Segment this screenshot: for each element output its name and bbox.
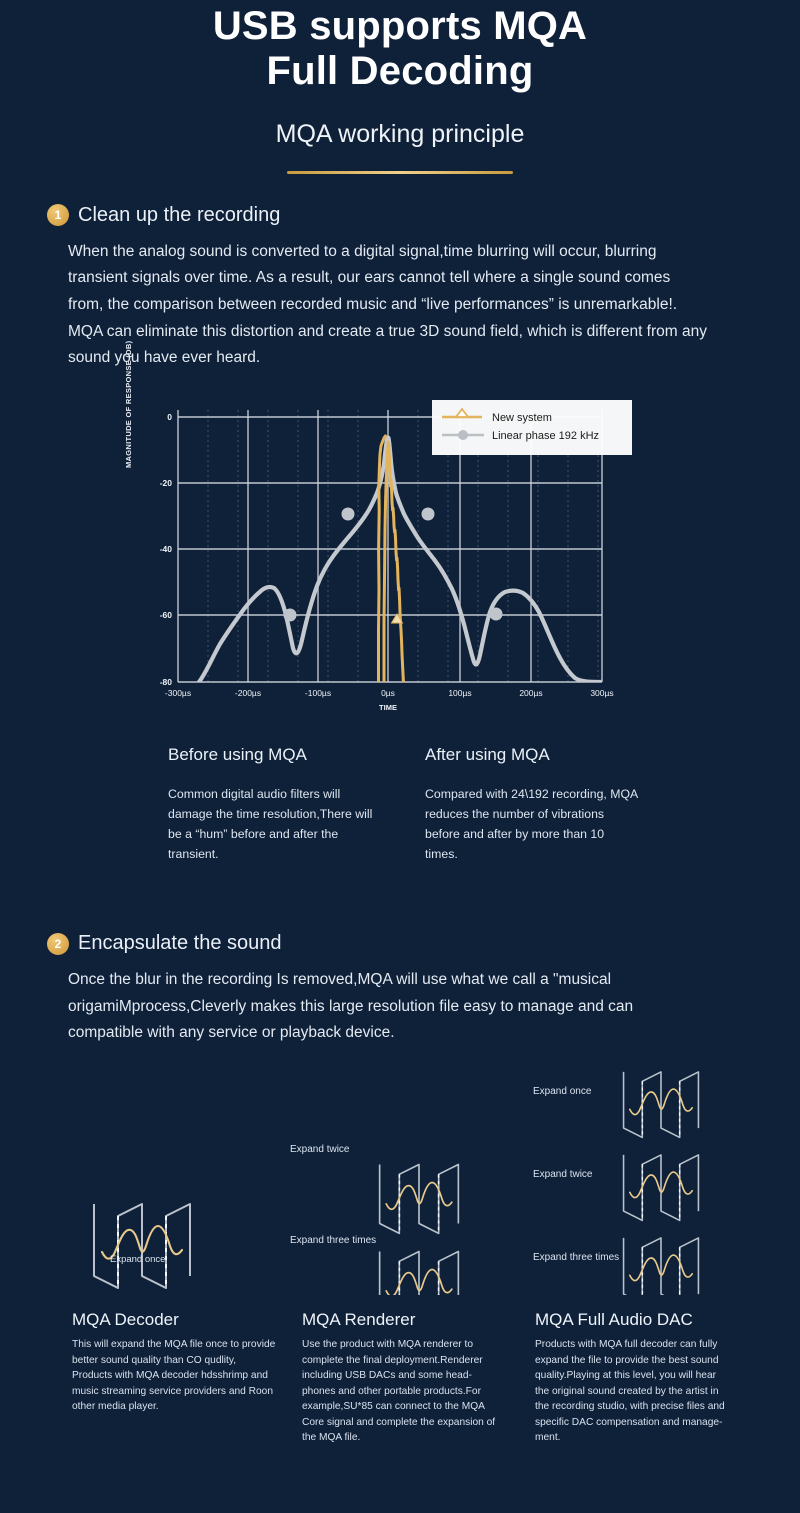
- origami-expand-three-times-right: [624, 1238, 699, 1295]
- section-clean-up-recording: 1 Clean up the recording When the analog…: [0, 204, 800, 372]
- origami-label-expand-once-large: Expand once: [110, 1254, 165, 1265]
- section-2-heading: 2 Encapsulate the sound: [0, 932, 800, 955]
- origami-label-expand-three-times-right: Expand three times: [533, 1252, 619, 1263]
- svg-text:-100µs: -100µs: [305, 688, 331, 698]
- gold-divider: [287, 171, 513, 174]
- chart-x-axis-title: TIME: [379, 703, 397, 710]
- step-number-badge: 1: [47, 204, 69, 226]
- card-body: Use the product with MQA renderer to com…: [302, 1337, 497, 1446]
- svg-text:-60: -60: [160, 610, 173, 620]
- card-heading: MQA Decoder: [72, 1310, 277, 1330]
- page-title: USB supports MQA Full Decoding: [0, 4, 800, 94]
- chart-legend: New system Linear phase 192 kHz: [432, 400, 632, 455]
- section-2-body: Once the blur in the recording Is remove…: [68, 967, 708, 1047]
- svg-text:0: 0: [167, 412, 172, 422]
- svg-text:100µs: 100µs: [448, 688, 471, 698]
- origami-expand-once-right: [624, 1072, 699, 1138]
- svg-text:0µs: 0µs: [381, 688, 395, 698]
- origami-expand-twice-mid: [380, 1164, 459, 1233]
- svg-text:-200µs: -200µs: [235, 688, 261, 698]
- before-body: Common digital audio filters will damage…: [168, 785, 383, 865]
- card-body: Products with MQA full decoder can fully…: [535, 1337, 730, 1446]
- origami-label-expand-twice-right: Expand twice: [533, 1169, 592, 1180]
- svg-text:300µs: 300µs: [590, 688, 613, 698]
- chart-svg: 0 -20 -40 -60 -80 -300µs -200µs -100µs 0…: [0, 390, 800, 710]
- comparison-before: Before using MQA Common digital audio fi…: [168, 745, 383, 865]
- card-body: This will expand the MQA file once to pr…: [72, 1337, 277, 1415]
- page-subtitle: MQA working principle: [0, 120, 800, 149]
- chart-y-axis-title: MAGNITUDE OF RESPONSE (DB): [124, 341, 133, 468]
- section-encapsulate-sound: 2 Encapsulate the sound Once the blur in…: [0, 932, 800, 1047]
- after-heading: After using MQA: [425, 745, 640, 765]
- step-number-badge: 2: [47, 933, 69, 955]
- section-2-title: Encapsulate the sound: [78, 932, 282, 955]
- card-mqa-decoder: MQA Decoder This will expand the MQA fil…: [72, 1310, 277, 1415]
- card-heading: MQA Full Audio DAC: [535, 1310, 730, 1330]
- page-title-line-2: Full Decoding: [0, 49, 800, 94]
- comparison-after: After using MQA Compared with 24\192 rec…: [425, 745, 640, 865]
- card-heading: MQA Renderer: [302, 1310, 497, 1330]
- svg-text:-40: -40: [160, 544, 173, 554]
- chart-y-tick-labels: 0 -20 -40 -60 -80: [160, 412, 173, 687]
- legend-label-linear-phase: Linear phase 192 kHz: [492, 430, 599, 442]
- section-1-title: Clean up the recording: [78, 204, 280, 227]
- chart-x-tick-labels: -300µs -200µs -100µs 0µs 100µs 200µs 300…: [165, 688, 614, 698]
- section-1-body: When the analog sound is converted to a …: [68, 239, 708, 372]
- card-mqa-full-audio-dac: MQA Full Audio DAC Products with MQA ful…: [535, 1310, 730, 1446]
- card-mqa-renderer: MQA Renderer Use the product with MQA re…: [302, 1310, 497, 1446]
- origami-diagram-stage: Expand once Expand twice Expand three ti…: [0, 1045, 800, 1305]
- svg-text:-80: -80: [160, 677, 173, 687]
- origami-expand-once-large: [94, 1204, 190, 1288]
- svg-text:-20: -20: [160, 478, 173, 488]
- page-title-line-1: USB supports MQA: [0, 4, 800, 49]
- svg-text:200µs: 200µs: [519, 688, 542, 698]
- origami-label-expand-twice-mid: Expand twice: [290, 1144, 349, 1155]
- svg-text:-300µs: -300µs: [165, 688, 191, 698]
- origami-expand-three-times-mid: [380, 1251, 459, 1295]
- before-heading: Before using MQA: [168, 745, 383, 765]
- section-1-heading: 1 Clean up the recording: [0, 204, 800, 227]
- after-body: Compared with 24\192 recording, MQA redu…: [425, 785, 640, 865]
- impulse-response-chart: 0 -20 -40 -60 -80 -300µs -200µs -100µs 0…: [0, 390, 800, 710]
- origami-expand-twice-right: [624, 1155, 699, 1221]
- origami-label-expand-once-right: Expand once: [533, 1086, 591, 1097]
- legend-label-new-system: New system: [492, 412, 552, 424]
- page-header: USB supports MQA Full Decoding MQA worki…: [0, 0, 800, 174]
- origami-label-expand-three-times-mid: Expand three times: [290, 1235, 376, 1246]
